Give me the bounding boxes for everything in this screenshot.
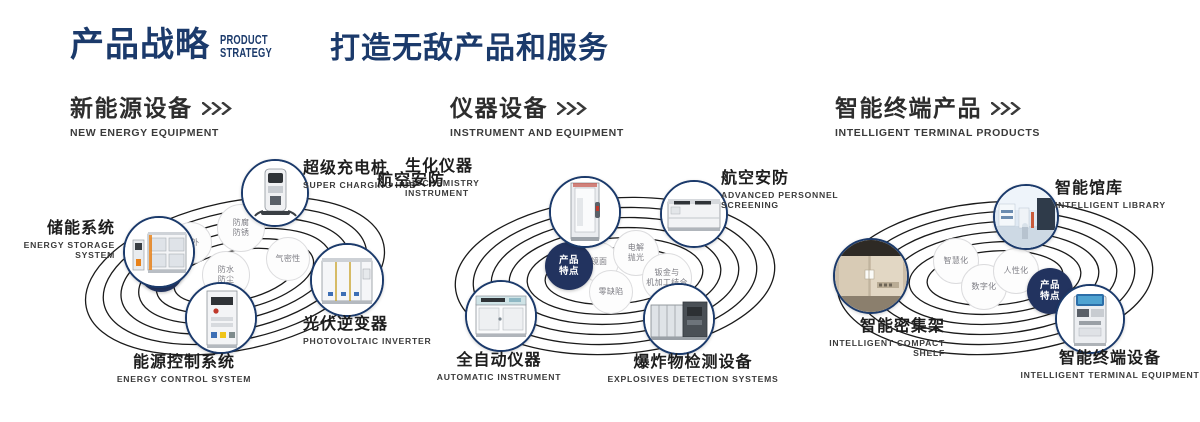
section-title-intelligent-terminal: 智能终端产品 INTELLIGENT TERMINAL PRODUCTS (835, 96, 1040, 139)
caption-intelligent-terminal-equipment: 智能终端设备 INTELLIGENT TERMINAL EQUIPMENT (1000, 350, 1200, 380)
section-title-en: NEW ENERGY EQUIPMENT (70, 127, 234, 139)
node-energy-storage-system[interactable] (123, 216, 195, 288)
section-title-en: INSTRUMENT AND EQUIPMENT (450, 127, 624, 139)
section-title-instrument: 仪器设备 INSTRUMENT AND EQUIPMENT (450, 96, 624, 139)
node-automatic-instrument[interactable] (465, 280, 537, 352)
node-intelligent-compact-shelf[interactable] (833, 238, 909, 314)
node-energy-control-system[interactable] (185, 282, 257, 354)
caption-cn: 航空安防 (335, 172, 445, 190)
node-biochemistry-instrument[interactable] (549, 176, 621, 248)
section-title-new-energy: 新能源设备 NEW ENERGY EQUIPMENT (70, 96, 234, 139)
core-bubble-product-features: 产品 特点 (545, 242, 593, 290)
caption-en: INTELLIGENT COMPACT SHELF (775, 338, 945, 359)
caption-cn: 智能密集架 (775, 318, 945, 336)
caption-cn: 爆炸物检测设备 (593, 354, 793, 372)
caption-en: INTELLIGENT LIBRARY (1055, 200, 1200, 210)
page-title: 产品战略 PRODUCT STRATEGY (70, 28, 292, 62)
node-explosives-detection[interactable] (643, 283, 715, 355)
caption-en: ENERGY CONTROL SYSTEM (89, 374, 279, 384)
caption-cn: 储能系统 (0, 220, 115, 238)
caption-aviation-security: 航空安防 (335, 172, 445, 192)
caption-cn: 全自动仪器 (409, 352, 589, 370)
chevron-right-icon (991, 102, 1023, 115)
caption-cn: 能源控制系统 (89, 354, 279, 372)
caption-energy-storage-system: 储能系统 ENERGY STORAGE SYSTEM (0, 220, 115, 261)
node-intelligent-library[interactable] (993, 184, 1059, 250)
chevron-right-icon (202, 102, 234, 115)
caption-intelligent-compact-shelf: 智能密集架 INTELLIGENT COMPACT SHELF (775, 318, 945, 359)
page-title-en: PRODUCT STRATEGY (220, 33, 272, 63)
section-title-cn: 智能终端产品 (835, 96, 982, 121)
section-title-cn: 仪器设备 (450, 96, 548, 121)
feature-bubble: 零缺陷 (589, 270, 633, 314)
caption-en: EXPLOSIVES DETECTION SYSTEMS (593, 374, 793, 384)
caption-energy-control-system: 能源控制系统 ENERGY CONTROL SYSTEM (89, 354, 279, 384)
caption-intelligent-library: 智能馆库 INTELLIGENT LIBRARY (1055, 180, 1200, 210)
node-advanced-personnel-screening[interactable] (660, 180, 728, 248)
caption-automatic-instrument: 全自动仪器 AUTOMATIC INSTRUMENT (409, 352, 589, 382)
cluster-instrument: 镜面 电解 抛光 钣金与 机加工结合 零缺陷 产品 特点 生化仪器 BIOCHE… (425, 158, 805, 383)
section-title-en: INTELLIGENT TERMINAL PRODUCTS (835, 127, 1040, 139)
caption-cn: 智能终端设备 (1000, 350, 1200, 368)
node-super-charging-hub[interactable] (241, 159, 309, 227)
page-slogan: 打造无敌产品和服务 (330, 34, 609, 64)
caption-cn: 智能馆库 (1055, 180, 1200, 198)
node-intelligent-terminal-equipment[interactable] (1055, 284, 1125, 354)
chevron-right-icon (557, 102, 589, 115)
feature-bubble: 气密性 (266, 237, 310, 281)
cluster-intelligent-terminal: 智慧化 数字化 人性化 产品 特点 智能馆库 INTELLIGENT LIBRA… (815, 158, 1185, 383)
section-title-cn: 新能源设备 (70, 96, 193, 121)
caption-en: INTELLIGENT TERMINAL EQUIPMENT (1000, 370, 1200, 380)
caption-en: AUTOMATIC INSTRUMENT (409, 372, 589, 382)
node-photovoltaic-inverter[interactable] (310, 243, 384, 317)
product-strategy-infographic: 产品战略 PRODUCT STRATEGY 打造无敌产品和服务 新能源设备 NE… (0, 0, 1200, 422)
caption-explosives-detection: 爆炸物检测设备 EXPLOSIVES DETECTION SYSTEMS (593, 354, 793, 384)
caption-en: ENERGY STORAGE SYSTEM (0, 240, 115, 261)
page-title-cn: 产品战略 (70, 28, 210, 62)
